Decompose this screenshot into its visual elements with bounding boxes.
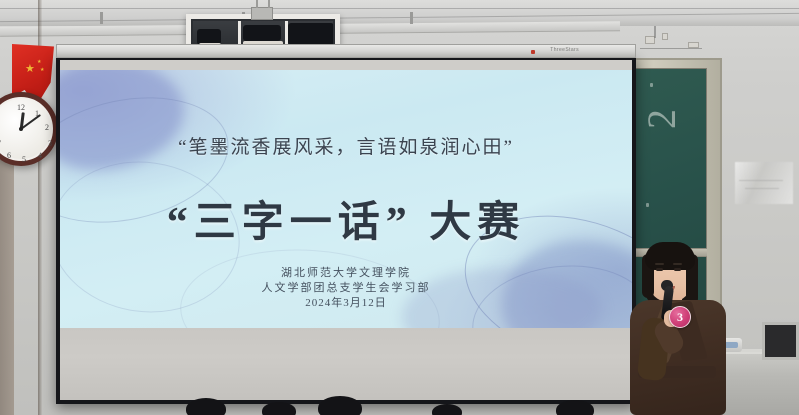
hair-front — [645, 242, 695, 270]
clock-numeral: 4 — [38, 151, 42, 160]
slide-footer: 湖北师范大学文理学院 人文学部团总支学生会学习部 2024年3月12日 — [60, 266, 632, 311]
wall-wire — [654, 26, 656, 38]
slide-title: “三字一话” 大赛 — [60, 188, 632, 249]
brand-logo-icon — [531, 50, 535, 54]
audience-head — [318, 396, 362, 415]
rail-hanger — [100, 12, 103, 24]
classroom-scene: ★ ★ ★ 12 1 2 3 4 5 6 7 8 — [0, 0, 799, 415]
speaker-person: 3 — [616, 238, 756, 415]
scuff-line — [745, 188, 779, 189]
flag-star-icon: ★ — [25, 64, 35, 75]
ceiling-seam — [0, 13, 799, 22]
screen-surface: “笔墨流香展风采，言语如泉润心田” “三字一话” 大赛 湖北师范大学文理学院 人… — [60, 60, 632, 400]
chalk-writing: 2 — [644, 101, 680, 129]
screen-blank-area — [60, 328, 632, 400]
clock-face: 12 1 2 3 4 5 6 7 8 — [0, 99, 51, 159]
projector-rod — [268, 0, 270, 8]
rail-hanger — [410, 12, 413, 24]
projector-rod — [256, 0, 258, 8]
clock-numeral: 7 — [0, 139, 1, 148]
podium-monitor — [762, 322, 799, 360]
audience-head — [262, 402, 296, 415]
slide-department: 人文学部团总支学生会学习部 — [60, 281, 632, 296]
projector-mount — [251, 7, 273, 20]
projection-screen-housing: ThreeStars — [56, 44, 636, 58]
slide-organization: 湖北师范大学文理学院 — [60, 266, 632, 281]
chalk-dot — [646, 203, 649, 207]
eye — [674, 268, 681, 271]
screen-brand-label: ThreeStars — [550, 47, 579, 53]
door-frame — [0, 160, 14, 415]
audience-head — [432, 404, 462, 415]
clock-numeral: 6 — [7, 151, 11, 160]
slide-subtitle: “笔墨流香展风采，言语如泉润心田” — [60, 132, 632, 159]
flag-star-icon: ★ — [40, 68, 44, 73]
projected-slide: “笔墨流香展风采，言语如泉润心田” “三字一话” 大赛 湖北师范大学文理学院 人… — [60, 70, 632, 328]
contestant-number-badge: 3 — [669, 306, 691, 328]
projection-screen: “笔墨流香展风采，言语如泉润心田” “三字一话” 大赛 湖北师范大学文理学院 人… — [56, 56, 636, 404]
audience-head — [186, 398, 226, 415]
clock-numeral: 12 — [17, 103, 25, 112]
flag-star-icon: ★ — [37, 60, 41, 65]
badge-number: 3 — [677, 311, 683, 323]
wall-scuff — [735, 162, 793, 204]
clock-numeral: 5 — [22, 155, 26, 164]
audience-head — [556, 400, 594, 415]
projector-shadow — [243, 25, 281, 41]
clock-center-pin — [19, 127, 23, 131]
eyebrow — [673, 263, 682, 265]
ceiling — [0, 0, 799, 26]
eye — [656, 268, 663, 271]
projector-shadow — [288, 23, 333, 45]
ceiling-seam — [0, 8, 799, 9]
scuff-line — [739, 180, 783, 181]
chalk-dot — [650, 83, 653, 87]
wall-fixture — [662, 33, 668, 40]
eyebrow — [655, 263, 664, 265]
clock-numeral: 2 — [45, 123, 49, 132]
wall-wire — [640, 48, 702, 49]
slide-date: 2024年3月12日 — [60, 296, 632, 311]
clock-numeral: 3 — [48, 139, 52, 148]
